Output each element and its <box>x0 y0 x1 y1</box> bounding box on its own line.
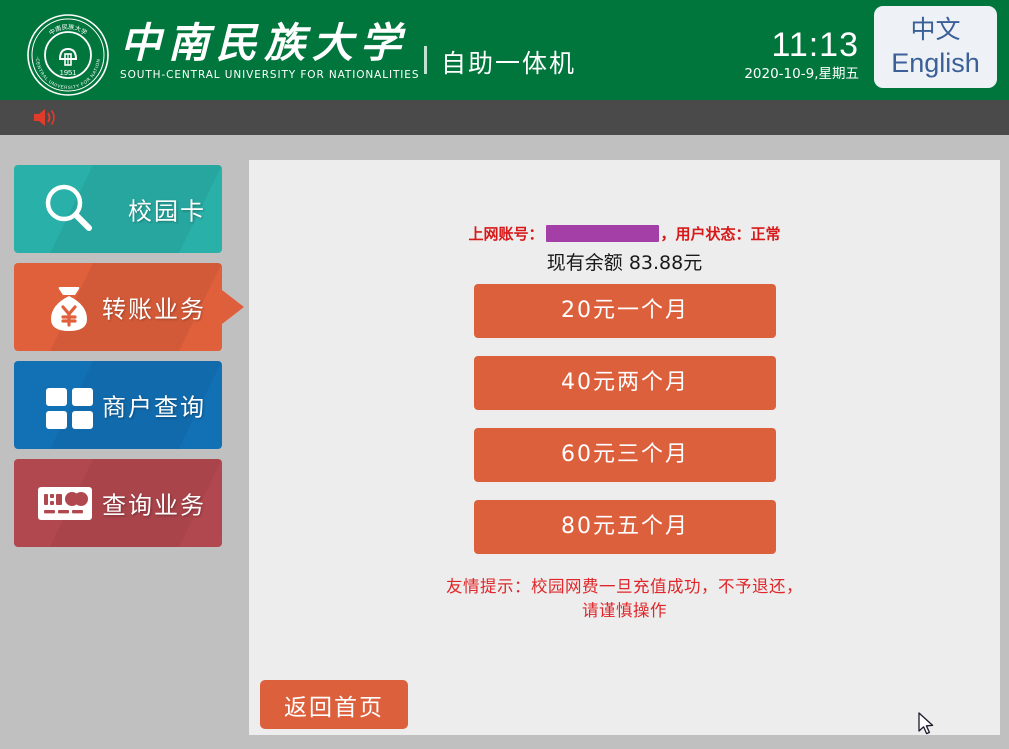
sidebar-item-label: 商户查询 <box>102 388 206 423</box>
recharge-option-40[interactable]: 40元两个月 <box>474 356 776 410</box>
grid-squares-icon <box>38 374 100 436</box>
notice-line-1: 友情提示：校园网费一旦充值成功，不予退还， <box>249 575 1000 599</box>
sidebar-item-label: 转账业务 <box>102 290 206 325</box>
sidebar-item-campus-card[interactable]: 校园卡 <box>14 165 222 253</box>
sidebar-item-label: 查询业务 <box>102 486 206 521</box>
toolbar <box>0 100 1009 135</box>
svg-text:中南民族大学: 中南民族大学 <box>47 23 88 37</box>
sidebar-item-transfer[interactable]: 转账业务 <box>14 263 222 351</box>
sidebar: 校园卡 转账业务 <box>0 135 249 749</box>
account-label: 上网账号： <box>468 225 543 243</box>
recharge-option-60[interactable]: 60元三个月 <box>474 428 776 482</box>
clock-date: 2020-10-9,星期五 <box>744 64 859 84</box>
search-magnifier-icon <box>38 178 100 240</box>
notice-text: 友情提示：校园网费一旦充值成功，不予退还， 请谨慎操作 <box>249 575 1000 623</box>
language-toggle-button[interactable]: 中文 English <box>874 6 997 88</box>
notice-line-2: 请谨慎操作 <box>249 599 1000 623</box>
title-divider <box>424 46 427 74</box>
account-status-text: ，用户状态：正常 <box>661 225 781 243</box>
sidebar-item-merchant-query[interactable]: 商户查询 <box>14 361 222 449</box>
language-option-english[interactable]: English <box>891 46 980 80</box>
credit-card-icon <box>34 472 96 534</box>
university-name-en: SOUTH-CENTRAL UNIVERSITY FOR NATIONALITI… <box>120 68 420 82</box>
language-option-chinese[interactable]: 中文 <box>910 14 960 46</box>
active-indicator-arrow-icon <box>222 290 244 324</box>
university-name-cn: 中南民族大学 <box>120 18 420 68</box>
account-status-line: 上网账号：，用户状态：正常 <box>249 223 1000 244</box>
app-header: 1951 中南民族大学 SOUTH-CENTRAL UNIVERSITY FOR… <box>0 0 1009 100</box>
volume-speaker-icon[interactable] <box>33 108 55 127</box>
back-home-button[interactable]: 返回首页 <box>260 680 408 729</box>
mouse-pointer-arrow <box>918 712 936 738</box>
main-content-panel: 上网账号：，用户状态：正常 现有余额 83.88元 20元一个月 40元两个月 … <box>249 160 1000 735</box>
balance-text: 现有余额 83.88元 <box>249 248 1000 275</box>
recharge-option-20[interactable]: 20元一个月 <box>474 284 776 338</box>
sidebar-item-label: 校园卡 <box>128 192 206 227</box>
sidebar-item-query-service[interactable]: 查询业务 <box>14 459 222 547</box>
clock-time: 11:13 <box>744 26 859 64</box>
money-bag-yuan-icon <box>38 276 100 338</box>
page-title: 自助一体机 <box>441 44 576 80</box>
university-wordmark: 中南民族大学 SOUTH-CENTRAL UNIVERSITY FOR NATI… <box>120 18 420 96</box>
clock: 11:13 2020-10-9,星期五 <box>744 26 859 84</box>
recharge-option-80[interactable]: 80元五个月 <box>474 500 776 554</box>
university-seal-logo: 1951 中南民族大学 SOUTH-CENTRAL UNIVERSITY FOR… <box>22 13 114 97</box>
account-value-redacted <box>546 225 659 242</box>
svg-text:1951: 1951 <box>60 68 77 77</box>
